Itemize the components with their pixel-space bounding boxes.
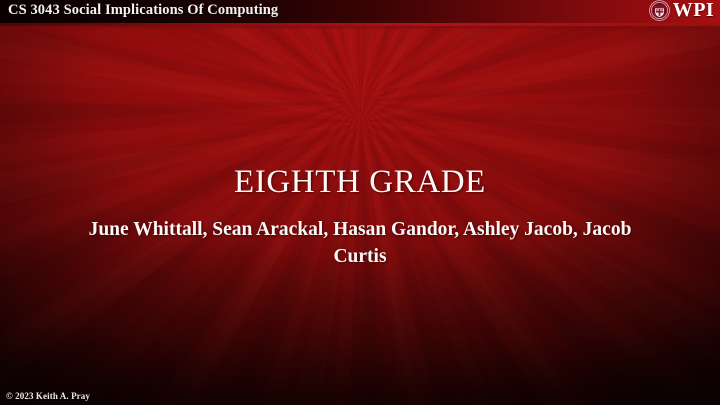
copyright-footer: © 2023 Keith A. Pray — [6, 391, 90, 401]
slide-title: EIGHTH GRADE — [0, 164, 720, 201]
course-title-text: CS 3043 Social Implications Of Computing — [8, 2, 278, 19]
wpi-wordmark: WPI — [673, 0, 714, 21]
wpi-seal-icon — [649, 0, 670, 21]
slide-header-bar: CS 3043 Social Implications Of Computing… — [0, 0, 720, 29]
presentation-slide: CS 3043 Social Implications Of Computing… — [0, 0, 720, 405]
wpi-logo: WPI — [649, 0, 714, 21]
header-fade — [0, 26, 720, 30]
slide-content: EIGHTH GRADE June Whittall, Sean Arackal… — [0, 0, 720, 405]
slide-subtitle-authors: June Whittall, Sean Arackal, Hasan Gando… — [60, 216, 660, 270]
